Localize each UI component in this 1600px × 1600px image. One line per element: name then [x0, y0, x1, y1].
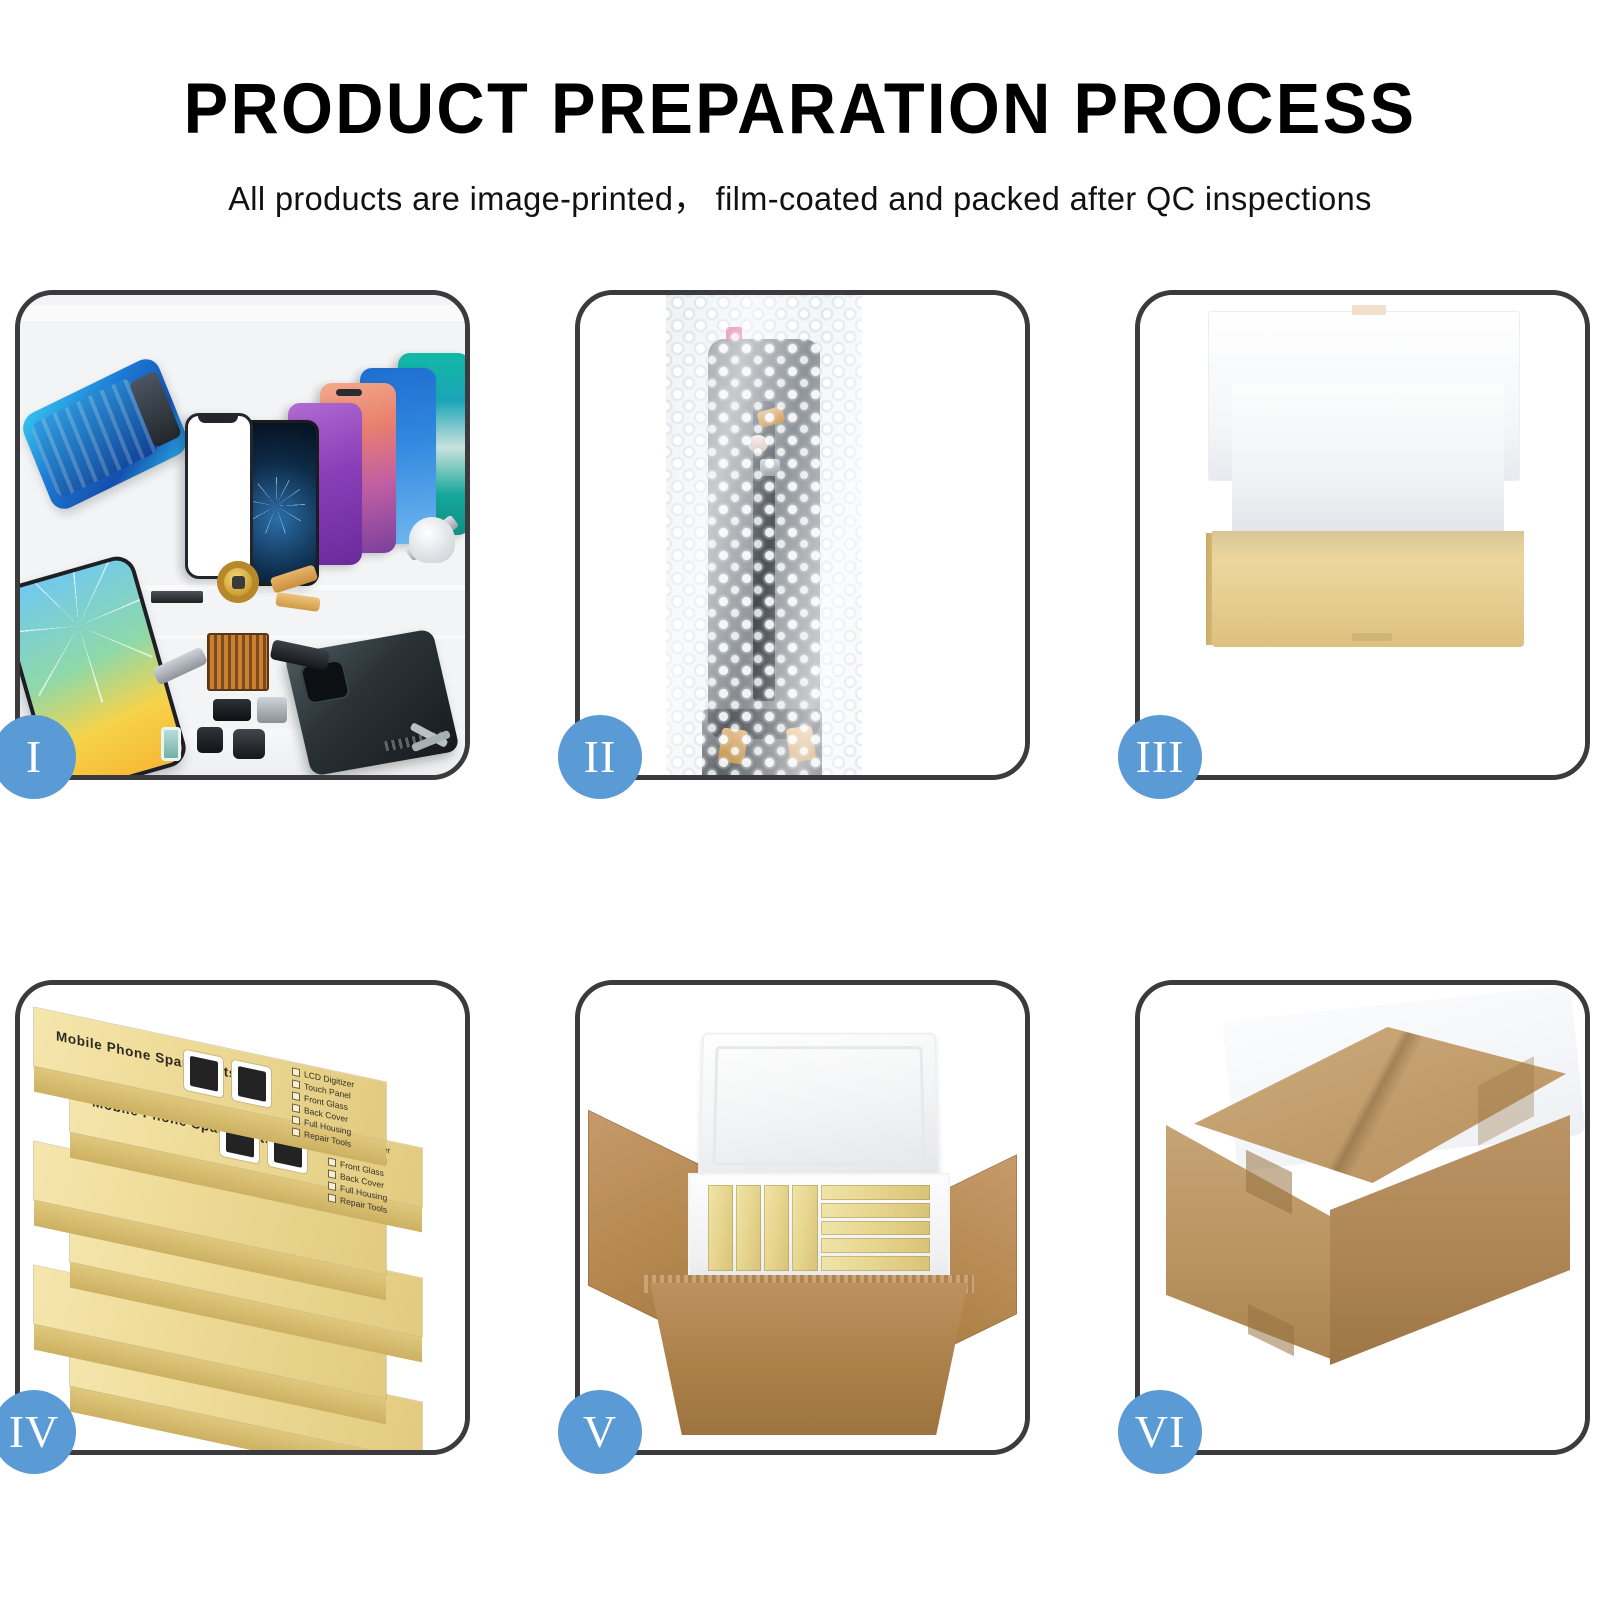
foam-liner [1232, 383, 1504, 543]
step-6-image [1140, 985, 1585, 1450]
step-badge-2: II [558, 715, 642, 799]
step-badge-6: VI [1118, 1390, 1202, 1474]
step-3-image [1140, 295, 1585, 775]
step-4-image: Mobile Phone Spare Parts LCD Digitizer T… [20, 985, 465, 1450]
step-card-2[interactable]: II [575, 290, 1030, 780]
step-card-4[interactable]: Mobile Phone Spare Parts LCD Digitizer T… [15, 980, 470, 1455]
step-1-image [20, 295, 465, 775]
step-badge-4: IV [0, 1390, 76, 1474]
brush-icon [409, 517, 455, 563]
step-card-3[interactable]: III [1135, 290, 1590, 780]
retail-box-checklist: LCD Digitizer Touch Panel Front Glass Ba… [292, 1066, 354, 1149]
phone-front-glass [185, 413, 253, 579]
step-card-1[interactable]: I [15, 290, 470, 780]
foam-box-lid [698, 1033, 940, 1180]
mailer-box-front [1212, 531, 1524, 647]
page-subtitle: All products are image-printed， film-coa… [24, 145, 1576, 217]
gold-boxes-inside [708, 1185, 930, 1271]
step-5-image [580, 985, 1025, 1450]
retail-box-thumbnails [184, 1049, 271, 1107]
page-title: PRODUCT PREPARATION PROCESS [48, 74, 1552, 145]
step-card-6[interactable]: VI [1135, 980, 1590, 1455]
step-badge-5: V [558, 1390, 642, 1474]
process-steps-grid: I II [15, 290, 1590, 1455]
bubble-wrap-sleeve [666, 295, 862, 775]
step-badge-1: I [0, 715, 76, 799]
back-glass-film [20, 354, 192, 514]
step-2-image [580, 295, 1025, 775]
carton-front [650, 1283, 968, 1435]
spare-parts-cluster [145, 557, 360, 775]
step-badge-3: III [1118, 715, 1202, 799]
retail-box-stack: Mobile Phone Spare Parts LCD Digitizer T… [20, 1003, 465, 1433]
step-card-5[interactable]: V [575, 980, 1030, 1455]
page-header: PRODUCT PREPARATION PROCESS All products… [0, 0, 1600, 217]
